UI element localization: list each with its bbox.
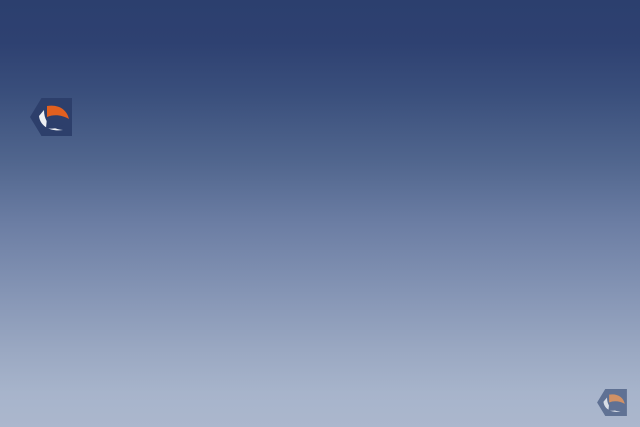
watermark-brand-row [597,389,632,416]
pixel-building-skyline [46,4,150,92]
watermark [597,389,632,417]
fanpu-watermark-logo-icon [597,389,627,416]
fanpu-logo-icon [30,98,72,136]
promo-banner [0,0,640,427]
brand-lockup [30,98,81,136]
